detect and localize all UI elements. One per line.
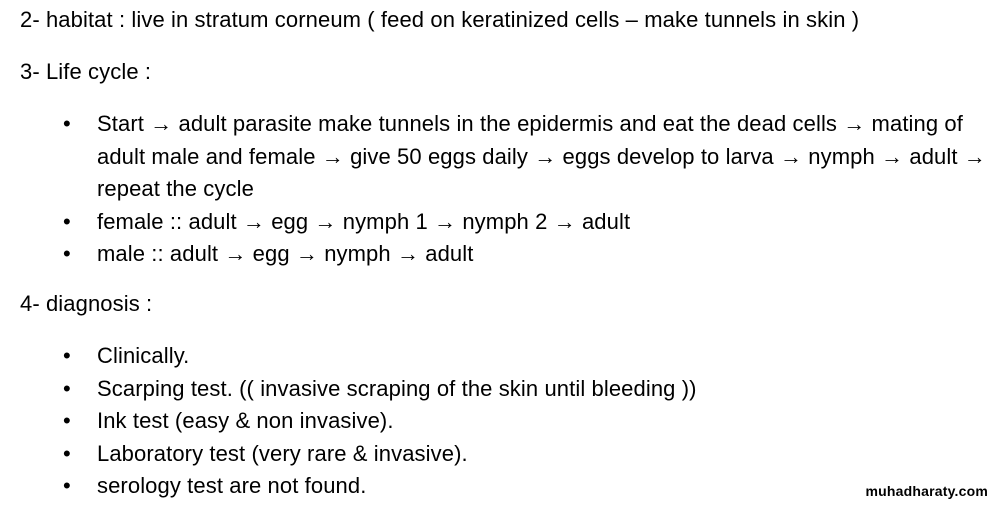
heading-habitat: 2- habitat : live in stratum corneum ( f…: [20, 6, 859, 34]
bullet-icon: •: [63, 405, 71, 438]
list-item-label: female :: adult → egg → nymph 1 → nymph …: [97, 206, 996, 239]
list-item: • male :: adult → egg → nymph → adult: [0, 238, 996, 271]
bullet-icon: •: [63, 470, 71, 503]
diagnosis-bullet-list: • Clinically. • Scarping test. (( invasi…: [0, 340, 996, 503]
list-item: • Scarping test. (( invasive scraping of…: [0, 373, 996, 406]
list-item-label: male :: adult → egg → nymph → adult: [97, 238, 996, 271]
list-item-label: serology test are not found.: [97, 470, 996, 503]
list-item: • serology test are not found.: [0, 470, 996, 503]
list-item: • Start → adult parasite make tunnels in…: [0, 108, 996, 206]
list-item-label: Start → adult parasite make tunnels in t…: [97, 108, 996, 206]
heading-diagnosis: 4- diagnosis :: [20, 290, 152, 318]
list-item: • female :: adult → egg → nymph 1 → nymp…: [0, 206, 996, 239]
list-item-label: Ink test (easy & non invasive).: [97, 405, 996, 438]
bullet-icon: •: [63, 438, 71, 471]
list-item: • Laboratory test (very rare & invasive)…: [0, 438, 996, 471]
list-item: • Ink test (easy & non invasive).: [0, 405, 996, 438]
life-cycle-bullet-list: • Start → adult parasite make tunnels in…: [0, 108, 996, 271]
list-item-label: Scarping test. (( invasive scraping of t…: [97, 373, 996, 406]
slide-page: 2- habitat : live in stratum corneum ( f…: [0, 0, 996, 508]
list-item-label: Clinically.: [97, 340, 996, 373]
bullet-icon: •: [63, 238, 71, 271]
list-item-label: Laboratory test (very rare & invasive).: [97, 438, 996, 471]
bullet-icon: •: [63, 373, 71, 406]
heading-life-cycle: 3- Life cycle :: [20, 58, 151, 86]
bullet-icon: •: [63, 340, 71, 373]
watermark: muhadharaty.com: [865, 482, 988, 500]
list-item: • Clinically.: [0, 340, 996, 373]
bullet-icon: •: [63, 108, 71, 141]
bullet-icon: •: [63, 206, 71, 239]
